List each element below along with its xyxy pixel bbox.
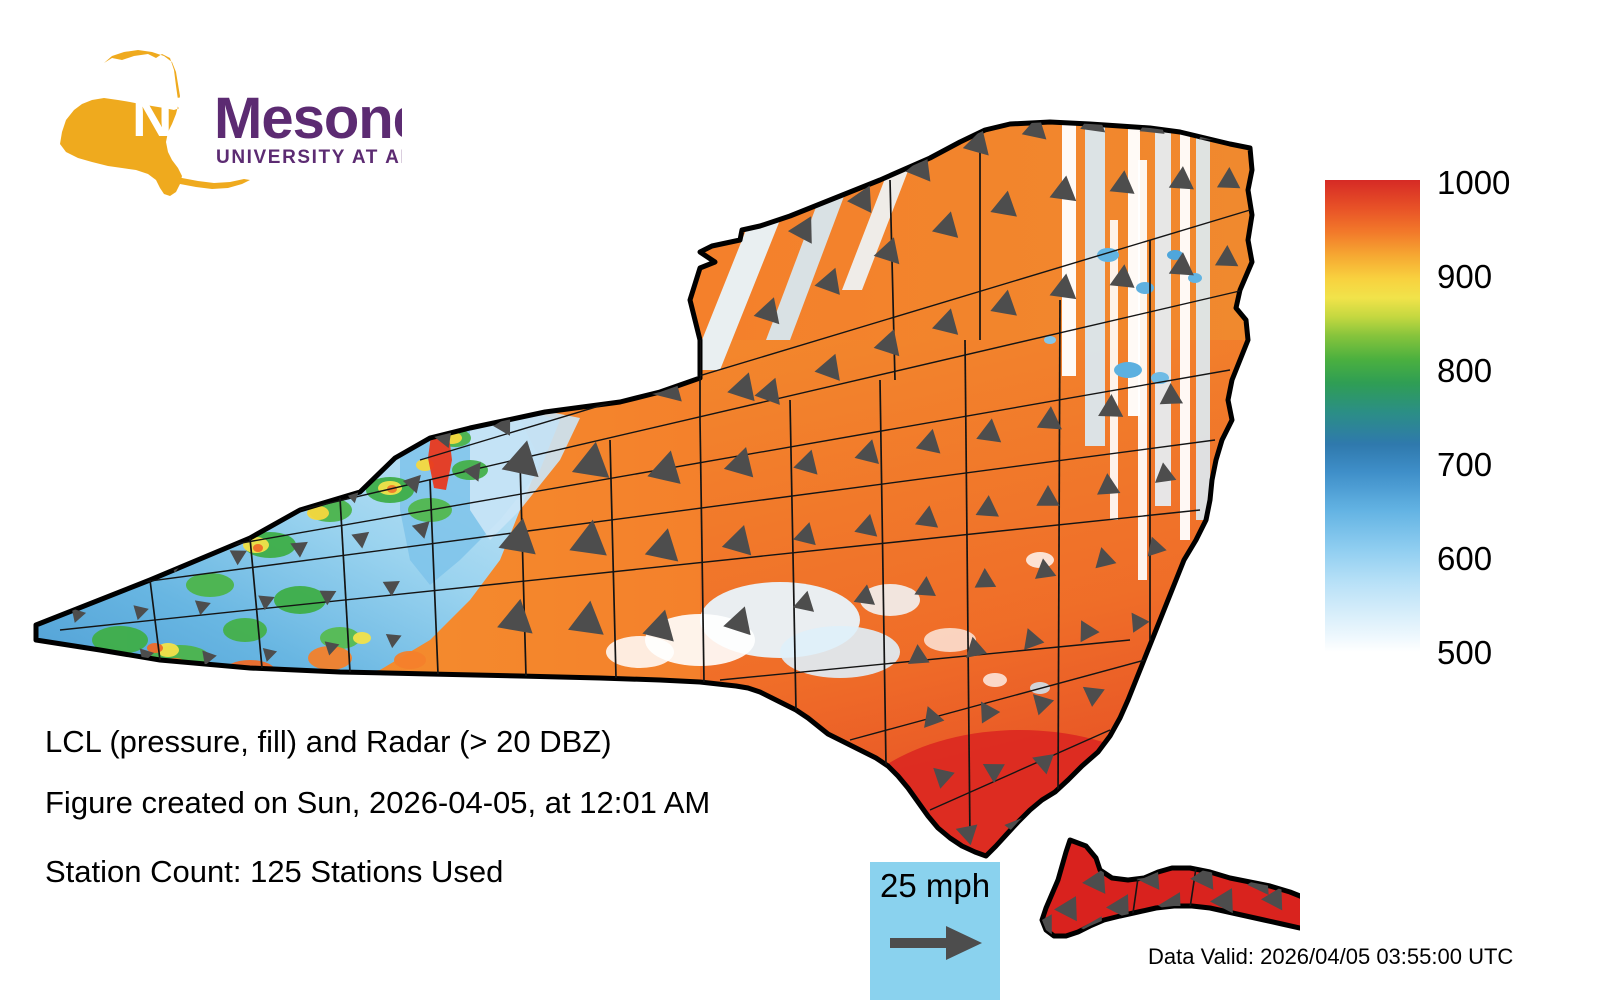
colorbar-tick-800: 800: [1437, 354, 1492, 387]
colorbar-tick-900: 900: [1437, 260, 1492, 293]
data-valid-timestamp: Data Valid: 2026/04/05 03:55:00 UTC: [1148, 946, 1513, 968]
colorbar-tick-700: 700: [1437, 448, 1492, 481]
wind-speed-legend: 25 mph: [870, 862, 1000, 1000]
lcl-pressure-colorbar: 1000 900 800 700 600 500: [1325, 180, 1575, 660]
caption-title: LCL (pressure, fill) and Radar (> 20 DBZ…: [45, 726, 612, 757]
wind-legend-arrow-icon: [886, 920, 986, 966]
caption-created: Figure created on Sun, 2026-04-05, at 12…: [45, 787, 710, 818]
colorbar-tick-1000: 1000: [1437, 166, 1510, 199]
wind-legend-label: 25 mph: [880, 867, 990, 905]
caption-station-count: Station Count: 125 Stations Used: [45, 856, 503, 887]
colorbar-tick-600: 600: [1437, 542, 1492, 575]
colorbar-tick-500: 500: [1437, 636, 1492, 669]
colorbar-gradient: [1325, 180, 1420, 652]
